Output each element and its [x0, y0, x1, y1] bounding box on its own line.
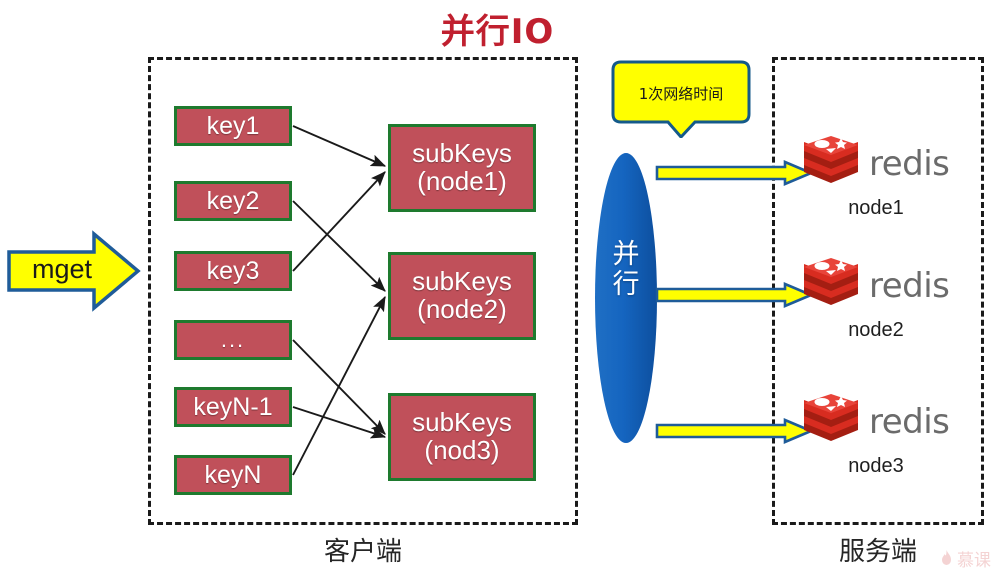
subkeys-box[interactable]: subKeys (nod3) [388, 393, 536, 481]
subkeys-box[interactable]: subKeys (node1) [388, 124, 536, 212]
redis-cube-icon [800, 391, 862, 453]
key-box[interactable]: key1 [174, 106, 292, 146]
parallel-ellipse-label: 并 行 [594, 240, 658, 300]
subkeys-line-1: subKeys [412, 409, 512, 437]
redis-cube-icon [800, 133, 862, 195]
parallel-char-1: 并 [594, 240, 658, 270]
client-caption: 客户端 [148, 531, 578, 568]
redis-wordmark: redis [869, 402, 949, 442]
key-box[interactable]: keyN [174, 455, 292, 495]
subkeys-line-2: (nod3) [412, 437, 512, 465]
redis-wordmark: redis [869, 266, 949, 306]
redis-node-name: node2 [800, 319, 960, 342]
key-box[interactable]: key2 [174, 181, 292, 221]
redis-node[interactable]: redis node1 [800, 133, 960, 220]
parallel-flow-arrow-icon [655, 282, 813, 308]
subkeys-line-1: subKeys [412, 268, 512, 296]
subkeys-line-2: (node1) [412, 168, 512, 196]
subkeys-line-2: (node2) [412, 296, 512, 324]
key-box[interactable]: key3 [174, 251, 292, 291]
watermark-text: 慕课 [957, 546, 991, 571]
subkeys-box[interactable]: subKeys (node2) [388, 252, 536, 340]
page-title: 并行IO [0, 4, 995, 53]
redis-node-name: node1 [800, 197, 960, 220]
key-box[interactable]: keyN-1 [174, 387, 292, 427]
key-box[interactable]: ... [174, 320, 292, 360]
redis-node[interactable]: redis node2 [800, 255, 960, 342]
diagram-canvas: 并行IO 客户端 服务端 mget key1 [0, 0, 995, 573]
redis-cube-icon [800, 255, 862, 317]
parallel-flow-arrow-icon [655, 418, 813, 444]
redis-wordmark: redis [869, 144, 949, 184]
flame-icon [939, 549, 954, 568]
mget-label: mget [14, 254, 110, 285]
parallel-flow-arrow-icon [655, 160, 813, 186]
redis-node-name: node3 [800, 455, 960, 478]
watermark: 慕课 [939, 546, 991, 571]
redis-node[interactable]: redis node3 [800, 391, 960, 478]
subkeys-line-1: subKeys [412, 140, 512, 168]
parallel-char-2: 行 [594, 270, 658, 300]
network-time-label: 1次网络时间 [611, 83, 751, 104]
